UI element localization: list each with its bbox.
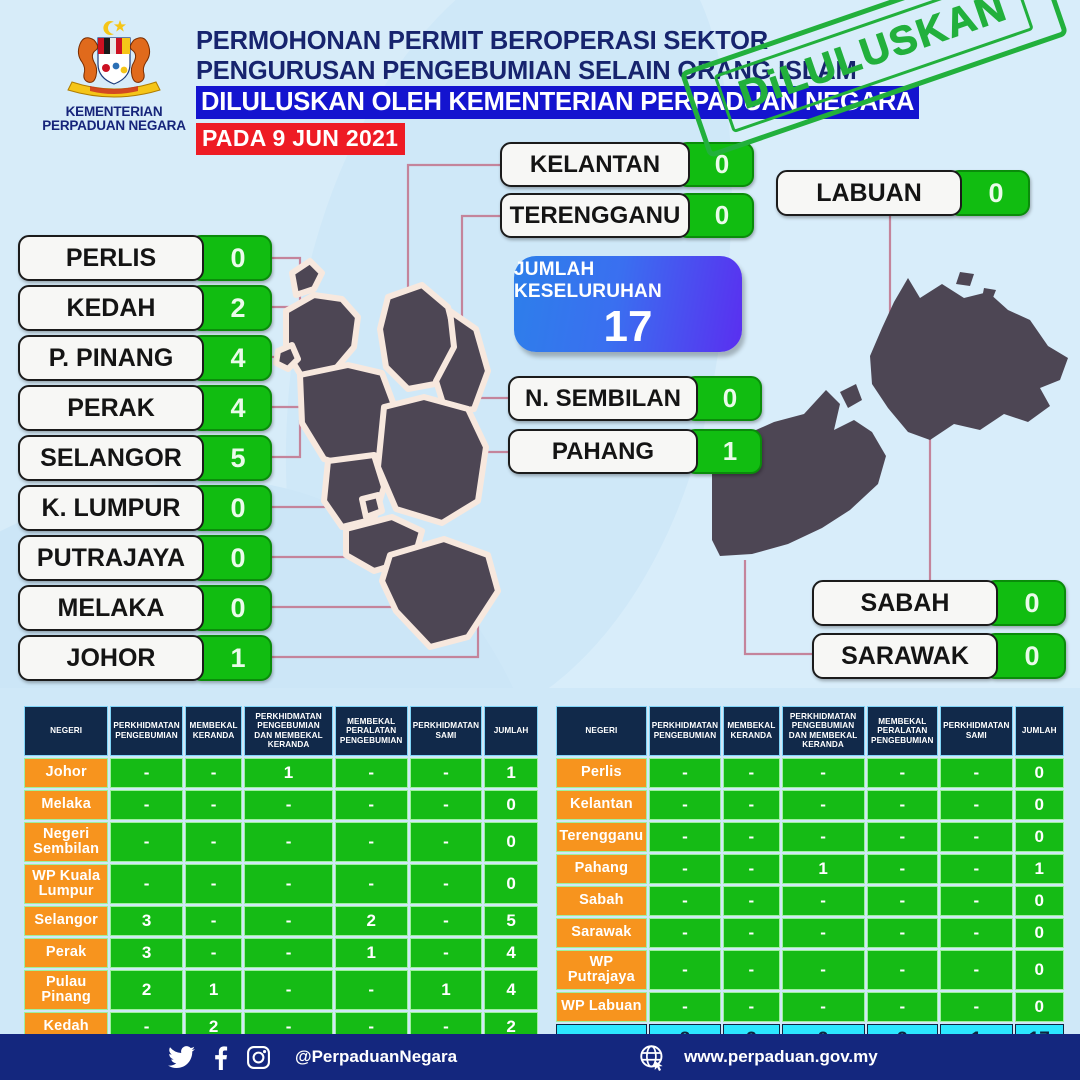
table-cell-value: - [244,970,332,1010]
table-cell-value: - [940,950,1012,990]
state-chip-label: PERLIS [18,235,204,281]
table-cell-value: - [244,790,332,820]
table-cell-value: 3 [110,938,182,968]
table-cell-state: WP Putrajaya [556,950,647,990]
date-badge: PADA 9 JUN 2021 [196,123,405,155]
table-cell-value: - [649,790,721,820]
col-perkhidmatan-pengebumian: PERKHIDMATAN PENGEBUMIAN [649,706,721,756]
state-chip-label: KEDAH [18,285,204,331]
table-cell-value: - [649,854,721,884]
table-cell-value: - [410,790,482,820]
state-chip-terengganu: TERENGGANU0 [500,193,754,238]
state-chip-pahang: PAHANG1 [508,429,762,474]
table-row: Selangor3--2-5 [24,906,538,936]
table-row: Pulau Pinang21--14 [24,970,538,1010]
facebook-icon[interactable] [213,1044,228,1070]
social-group: @PerpaduanNegara [168,1044,457,1070]
table-cell-value: - [867,854,939,884]
table-row: Terengganu-----0 [556,822,1064,852]
table-cell-value: - [649,992,721,1022]
table-cell-value: 0 [1015,790,1065,820]
table-peninsular: NEGERI PERKHIDMATAN PENGEBUMIAN MEMBEKAL… [22,704,540,1044]
col-negeri: NEGERI [556,706,647,756]
permit-table-left: NEGERI PERKHIDMATAN PENGEBUMIAN MEMBEKAL… [22,704,540,1044]
table-cell-value: - [410,822,482,862]
state-chip-label: MELAKA [18,585,204,631]
instagram-icon[interactable] [246,1045,271,1070]
website-group: www.perpaduan.gov.my [639,1044,878,1071]
table-cell-value: - [110,790,182,820]
table-cell-value: - [723,950,779,990]
table-cell-value: - [244,906,332,936]
table-cell-value: 2 [110,970,182,1010]
col-perkhidmatan-sami: PERKHIDMATAN SAMI [410,706,482,756]
table-cell-value: - [335,970,408,1010]
state-chip-label: SELANGOR [18,435,204,481]
state-chip-label: LABUAN [776,170,962,216]
twitter-icon[interactable] [168,1046,195,1069]
table-cell-value: - [867,918,939,948]
total-badge: JUMLAH KESELURUHAN 17 [514,256,742,352]
state-chip-label: TERENGGANU [500,193,690,238]
table-cell-state: WP Labuan [556,992,647,1022]
table-cell-value: 1 [782,854,865,884]
table-cell-value: - [185,758,243,788]
table-cell-value: - [940,790,1012,820]
state-chip-labuan: LABUAN0 [776,170,1030,216]
table-cell-value: 1 [410,970,482,1010]
state-chip-label: SABAH [812,580,998,626]
table-row: Pahang--1--1 [556,854,1064,884]
table-cell-value: - [867,758,939,788]
table-cell-value: 0 [1015,918,1065,948]
table-cell-value: - [867,992,939,1022]
table-cell-state: Johor [24,758,108,788]
table-cell-value: - [782,950,865,990]
table-row: Negeri Sembilan-----0 [24,822,538,862]
col-membekal-peralatan: MEMBEKAL PERALATAN PENGEBUMIAN [335,706,408,756]
col-membekal-keranda: MEMBEKAL KERANDA [185,706,243,756]
table-cell-value: - [410,906,482,936]
table-cell-value: 5 [484,906,538,936]
table-cell-value: - [110,758,182,788]
table-cell-value: - [244,864,332,904]
state-chip-label: N. SEMBILAN [508,376,698,421]
table-cell-value: - [649,918,721,948]
state-chip-label: P. PINANG [18,335,204,381]
emblem-caption-line1: KEMENTERIAN [42,105,186,119]
table-cell-state: Perlis [556,758,647,788]
table-cell-state: Pulau Pinang [24,970,108,1010]
state-chip-label: K. LUMPUR [18,485,204,531]
col-negeri: NEGERI [24,706,108,756]
state-chip-n-sembilan: N. SEMBILAN0 [508,376,762,421]
table-cell-value: - [185,938,243,968]
table-cell-value: - [185,906,243,936]
table-cell-value: - [335,864,408,904]
table-cell-value: - [723,854,779,884]
state-chip-selangor: SELANGOR5 [18,435,272,481]
table-cell-value: 0 [1015,822,1065,852]
state-chip-label: PAHANG [508,429,698,474]
table-cell-value: 1 [1015,854,1065,884]
table-row: WP Putrajaya-----0 [556,950,1064,990]
state-chip-johor: JOHOR1 [18,635,272,681]
approved-stamp-text: DiLULUSKAN [734,0,1013,118]
state-chip-kedah: KEDAH2 [18,285,272,331]
table-cell-value: 2 [335,906,408,936]
state-chip-k-lumpur: K. LUMPUR0 [18,485,272,531]
table-cell-value: - [649,758,721,788]
table-cell-value: 0 [1015,992,1065,1022]
table-cell-value: - [649,950,721,990]
table-cell-value: 1 [244,758,332,788]
table-cell-value: - [335,790,408,820]
table-cell-value: - [244,822,332,862]
globe-icon [639,1044,666,1071]
table-row: WP Kuala Lumpur-----0 [24,864,538,904]
table-cell-value: 1 [185,970,243,1010]
table-cell-value: - [782,918,865,948]
coat-of-arms-icon [60,16,168,104]
table-cell-value: 0 [484,864,538,904]
website-url[interactable]: www.perpaduan.gov.my [684,1047,878,1067]
table-cell-value: - [782,758,865,788]
table-row: Sabah-----0 [556,886,1064,916]
table-cell-value: - [185,790,243,820]
table-cell-value: - [649,886,721,916]
table-cell-value: - [723,992,779,1022]
table-cell-value: - [410,938,482,968]
state-chip-label: PUTRAJAYA [18,535,204,581]
table-header-row: NEGERI PERKHIDMATAN PENGEBUMIAN MEMBEKAL… [24,706,538,756]
table-cell-value: 0 [1015,886,1065,916]
col-jumlah: JUMLAH [484,706,538,756]
state-chip-sarawak: SARAWAK0 [812,633,1066,679]
table-cell-value: - [244,938,332,968]
col-pengebumian-dan-keranda: PERKHIDMATAN PENGEBUMIAN DAN MEMBEKAL KE… [782,706,865,756]
table-cell-value: - [867,822,939,852]
table-cell-value: 0 [1015,950,1065,990]
table-cell-value: - [723,886,779,916]
table-cell-state: Sabah [556,886,647,916]
table-cell-value: 3 [110,906,182,936]
table-cell-value: - [940,854,1012,884]
table-cell-value: - [110,822,182,862]
state-chip-label: JOHOR [18,635,204,681]
header: KEMENTERIAN PERPADUAN NEGARA PERMOHONAN … [0,0,1080,150]
col-pengebumian-dan-keranda: PERKHIDMATAN PENGEBUMIAN DAN MEMBEKAL KE… [244,706,332,756]
state-chip-label: SARAWAK [812,633,998,679]
table-header-row: NEGERI PERKHIDMATAN PENGEBUMIAN MEMBEKAL… [556,706,1064,756]
table-cell-value: - [940,758,1012,788]
col-membekal-peralatan: MEMBEKAL PERALATAN PENGEBUMIAN [867,706,939,756]
table-row: WP Labuan-----0 [556,992,1064,1022]
table-row: Melaka-----0 [24,790,538,820]
state-chip-perak: PERAK4 [18,385,272,431]
table-cell-value: - [723,758,779,788]
table-cell-value: - [867,886,939,916]
table-cell-value: 0 [484,822,538,862]
table-cell-value: - [335,822,408,862]
table-row: Perlis-----0 [556,758,1064,788]
permit-table-right: NEGERI PERKHIDMATAN PENGEBUMIAN MEMBEKAL… [554,704,1066,1058]
ministry-emblem: KEMENTERIAN PERPADUAN NEGARA [38,16,190,138]
table-cell-state: WP Kuala Lumpur [24,864,108,904]
table-cell-value: - [110,864,182,904]
table-cell-state: Pahang [556,854,647,884]
total-badge-value: 17 [604,305,653,349]
table-cell-value: - [782,790,865,820]
table-cell-value: - [335,758,408,788]
table-row: Kelantan-----0 [556,790,1064,820]
col-jumlah: JUMLAH [1015,706,1065,756]
table-cell-value: 4 [484,970,538,1010]
table-cell-value: - [782,822,865,852]
table-cell-state: Perak [24,938,108,968]
table-east-and-north: NEGERI PERKHIDMATAN PENGEBUMIAN MEMBEKAL… [554,704,1066,1058]
social-handle[interactable]: @PerpaduanNegara [295,1047,457,1067]
table-cell-value: - [940,822,1012,852]
table-cell-value: - [410,864,482,904]
table-cell-value: - [940,886,1012,916]
table-row: Sarawak-----0 [556,918,1064,948]
table-cell-value: - [410,758,482,788]
table-cell-state: Negeri Sembilan [24,822,108,862]
table-cell-value: - [185,822,243,862]
table-cell-value: 4 [484,938,538,968]
state-chip-putrajaya: PUTRAJAYA0 [18,535,272,581]
state-chip-perlis: PERLIS0 [18,235,272,281]
total-badge-label: JUMLAH KESELURUHAN [514,259,742,303]
table-cell-value: - [723,790,779,820]
state-chip-melaka: MELAKA0 [18,585,272,631]
table-cell-state: Sarawak [556,918,647,948]
table-cell-value: 0 [1015,758,1065,788]
table-cell-value: - [723,822,779,852]
table-cell-value: 0 [484,790,538,820]
emblem-caption-line2: PERPADUAN NEGARA [42,119,186,133]
table-cell-value: - [782,886,865,916]
table-cell-value: - [649,822,721,852]
state-chip-p-pinang: P. PINANG4 [18,335,272,381]
state-chip-label: PERAK [18,385,204,431]
table-cell-state: Selangor [24,906,108,936]
table-cell-state: Kelantan [556,790,647,820]
table-row: Perak3--1-4 [24,938,538,968]
col-membekal-keranda: MEMBEKAL KERANDA [723,706,779,756]
state-chip-sabah: SABAH0 [812,580,1066,626]
table-cell-value: - [940,918,1012,948]
table-cell-value: 1 [335,938,408,968]
table-cell-value: - [867,950,939,990]
table-cell-value: - [940,992,1012,1022]
table-cell-value: - [185,864,243,904]
table-cell-value: - [782,992,865,1022]
col-perkhidmatan-pengebumian: PERKHIDMATAN PENGEBUMIAN [110,706,182,756]
table-cell-value: - [723,918,779,948]
table-cell-state: Melaka [24,790,108,820]
table-cell-state: Terengganu [556,822,647,852]
table-cell-value: 1 [484,758,538,788]
table-cell-value: - [867,790,939,820]
footer: @PerpaduanNegara www.perpaduan.gov.my [0,1034,1080,1080]
table-row: Johor--1--1 [24,758,538,788]
col-perkhidmatan-sami: PERKHIDMATAN SAMI [940,706,1012,756]
